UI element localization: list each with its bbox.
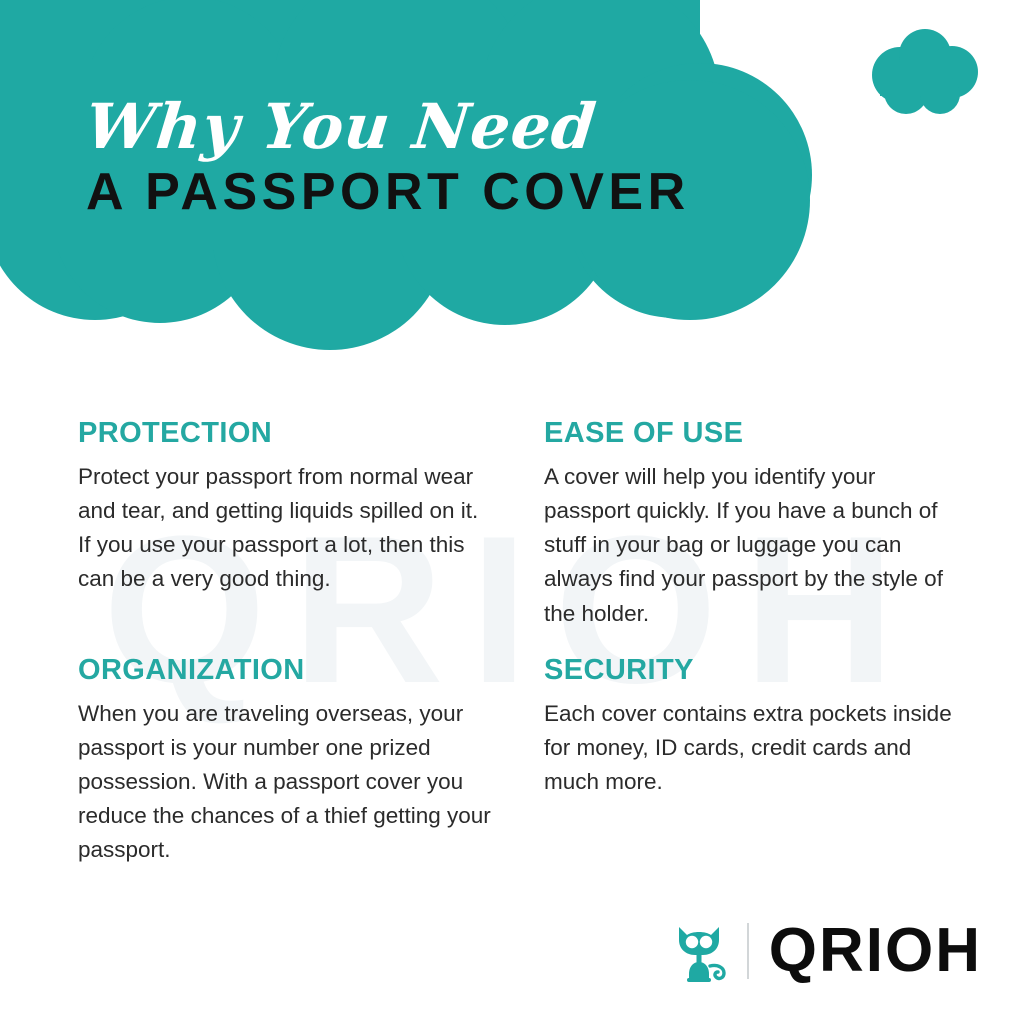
feature-title-ease-of-use: EASE OF USE <box>544 418 974 450</box>
logo-wordmark: QRIOH <box>769 920 982 982</box>
cat-mascot-icon <box>673 918 731 984</box>
infographic-canvas: Why You Need A PASSPORT COVER QRIOH PROT… <box>0 0 1024 1024</box>
title-script-line: Why You Need <box>83 96 790 158</box>
feature-protection: PROTECTION Protect your passport from no… <box>78 418 508 631</box>
feature-title-organization: ORGANIZATION <box>78 655 508 687</box>
logo-divider <box>747 923 749 979</box>
feature-organization: ORGANIZATION When you are traveling over… <box>78 655 508 868</box>
page-title: Why You Need A PASSPORT COVER <box>86 96 786 220</box>
feature-ease-of-use: EASE OF USE A cover will help you identi… <box>544 418 974 631</box>
title-main-line: A PASSPORT COVER <box>86 164 786 220</box>
feature-body-protection: Protect your passport from normal wear a… <box>78 460 496 597</box>
feature-body-ease-of-use: A cover will help you identify your pass… <box>544 460 964 631</box>
feature-title-protection: PROTECTION <box>78 418 508 450</box>
brand-logo: QRIOH <box>673 918 982 984</box>
small-cloud-shape <box>872 29 978 114</box>
feature-security: SECURITY Each cover contains extra pocke… <box>544 655 974 868</box>
feature-body-organization: When you are traveling overseas, your pa… <box>78 697 496 868</box>
feature-body-security: Each cover contains extra pockets inside… <box>544 697 964 800</box>
feature-grid: PROTECTION Protect your passport from no… <box>0 418 1024 868</box>
feature-title-security: SECURITY <box>544 655 974 687</box>
